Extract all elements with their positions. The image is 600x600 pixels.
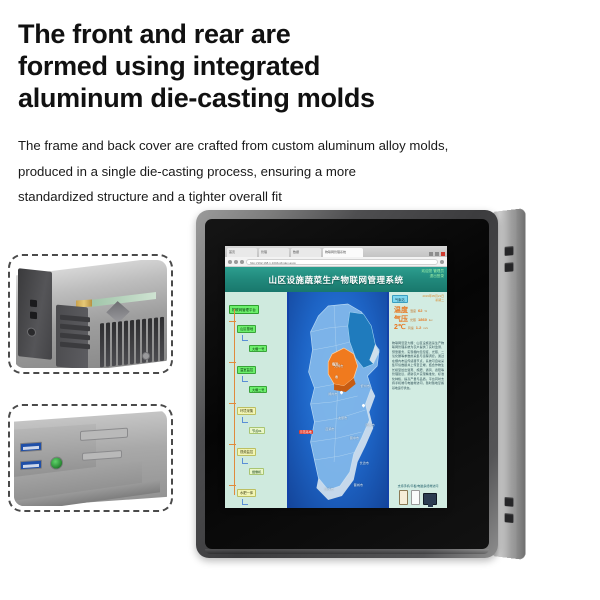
readout-label: 风速 <box>408 326 414 330</box>
info-header: 气象站 2019年05月21日 星期二 <box>392 295 444 303</box>
info-date: 2019年05月21日 星期二 <box>422 295 444 303</box>
rear-grooves <box>60 315 90 352</box>
rear-groove <box>60 333 90 341</box>
maximize-icon[interactable] <box>435 252 439 256</box>
info-description: 物联网温室大棚：山区设施蔬菜生产物联网管理系统为农户提供了实时监测、预警服务，实… <box>392 341 444 391</box>
phone-icon[interactable] <box>399 490 408 505</box>
tree-leaf[interactable]: 节点01 <box>249 427 265 435</box>
body-line-3: standardized structure and a tighter ove… <box>18 184 438 210</box>
tree-child-wrap: 大棚一号 <box>249 337 284 355</box>
heatsink-fin <box>106 322 110 366</box>
tree-spine <box>234 309 235 495</box>
info-pane: 气象站 2019年05月21日 星期二 温度 湿度 62 % <box>387 292 447 508</box>
vent-slot-icon <box>505 497 514 507</box>
readout-title: 2℃ <box>394 324 406 331</box>
logout-link[interactable]: 退出登录 <box>421 274 444 279</box>
heatsink-fin <box>160 317 164 361</box>
io-slot <box>80 428 128 441</box>
map-region-label: 晋中市 <box>350 435 359 440</box>
reload-icon[interactable] <box>240 260 244 264</box>
map-region-label: 太原市 <box>338 415 347 420</box>
close-icon[interactable] <box>441 252 445 256</box>
tree-group: 山区基地大棚一号 <box>237 317 284 355</box>
heatsink-fin <box>118 321 122 365</box>
headline: The front and rear are formed using inte… <box>18 18 378 114</box>
tree-node[interactable]: 环境采集 <box>237 407 256 415</box>
back-arrow-icon[interactable] <box>228 260 232 264</box>
readout-value: 1860 <box>418 317 427 322</box>
map-base-marker-tag[interactable]: 示范基地 <box>299 430 313 434</box>
readout-label: 光照 <box>410 318 416 322</box>
map-region-label: 忻州市 <box>361 383 370 388</box>
tree-group: 视频监控摄像机 <box>237 440 284 478</box>
inset-io-ports <box>8 404 173 512</box>
readout-unit: % <box>424 309 427 313</box>
readout-row: 2℃ 风速 1.2 m/s <box>394 324 444 331</box>
readout-unit: m/s <box>423 326 428 330</box>
tree-child-wrap: 节点01 <box>249 419 284 437</box>
app-title: 山区设施蔬菜生产物联网管理系统 <box>268 274 403 286</box>
info-date-line-2: 星期二 <box>422 299 444 303</box>
tree-child-wrap: 控制器 <box>249 501 284 508</box>
minimize-icon[interactable] <box>429 252 433 256</box>
heatsink-fin <box>124 321 128 365</box>
map-region-label: 吕梁市 <box>325 426 334 431</box>
device-support-footer: 支持手机/平板/电脑多终端访问 <box>392 484 444 508</box>
url-input[interactable]: http://192.168.1.100/iot/index.aspx <box>246 259 438 265</box>
readout-value: 62 <box>418 308 422 313</box>
readout-unit: lux <box>429 318 433 322</box>
tree-navigation-pane[interactable]: 物联网管理平台 山区基地大棚一号温室监控大棚二号环境采集节点01视频监控摄像机水… <box>225 292 289 508</box>
map-region-label: 朔州市 <box>328 391 337 396</box>
io-slot <box>82 450 122 461</box>
tree-leaf[interactable]: 摄像机 <box>249 468 264 476</box>
rear-groove <box>60 342 90 350</box>
province-map-pane[interactable]: 大同市朔州市忻州市阳泉市晋中市吕梁市太原市长治市晋城市运城市 临汾 市 示范基地 <box>289 292 387 508</box>
readout-row: 温度 湿度 62 % <box>394 307 444 314</box>
inset-rear-chassis-photo <box>14 260 167 368</box>
device-icon-row <box>392 490 444 505</box>
browser-tab-active[interactable]: 物联网管理系统 <box>323 248 363 257</box>
browser-tab[interactable]: 首页 <box>227 248 257 257</box>
desktop-monitor-icon[interactable] <box>423 493 437 505</box>
display-screen: 首页 管理 数据 物联网管理系统 http://192.168.1.10 <box>225 246 447 508</box>
readout-title: 气压 <box>394 316 408 323</box>
tree-node[interactable]: 视频监控 <box>237 448 256 456</box>
province-map-svg <box>289 292 387 508</box>
browser-tab[interactable]: 管理 <box>259 248 289 257</box>
browser-address-bar[interactable]: http://192.168.1.100/iot/index.aspx <box>225 257 447 267</box>
sensor-readouts: 温度 湿度 62 % 气压 光照 1860 lux <box>394 307 444 333</box>
inset-rear-chassis <box>8 254 173 374</box>
screw-icon <box>142 352 150 360</box>
heatsink-fin <box>112 322 116 366</box>
readout-title: 温度 <box>394 307 408 314</box>
map-region-label: 运城市 <box>324 486 333 491</box>
info-paragraph: 物联网温室大棚：山区设施蔬菜生产物联网管理系统为农户提供了实时监测、预警服务，实… <box>392 341 444 391</box>
heatsink-fins <box>100 317 166 368</box>
rear-round-port-icon <box>27 327 36 337</box>
monitor-bezel: 首页 管理 数据 物联网管理系统 http://192.168.1.10 <box>196 210 498 558</box>
readout-label: 湿度 <box>410 309 416 313</box>
tree-node[interactable]: 山区基地 <box>237 325 256 333</box>
tree-leaf[interactable]: 大棚一号 <box>249 345 267 353</box>
app-body: 物联网管理平台 山区基地大棚一号温室监控大棚二号环境采集节点01视频监控摄像机水… <box>225 292 447 508</box>
bezel-sheen <box>205 549 489 554</box>
tree-child-wrap: 摄像机 <box>249 460 284 478</box>
rail-edge <box>516 208 525 560</box>
inset-io-ports-photo <box>14 410 167 506</box>
rear-port-icon <box>30 299 37 307</box>
tree-leaf[interactable]: 大棚二号 <box>249 386 267 394</box>
menu-icon[interactable] <box>440 260 444 264</box>
readout-value: 1.2 <box>416 325 422 330</box>
phone-icon[interactable] <box>411 490 420 505</box>
map-region-label: 阳泉市 <box>365 422 374 427</box>
headline-line-2: formed using integrated <box>18 50 378 82</box>
headline-line-3: aluminum die-casting molds <box>18 82 378 114</box>
map-region-label: 长治市 <box>360 460 369 465</box>
app-header-user-area: 欢迎您 管理员 退出登录 <box>421 269 444 279</box>
window-controls[interactable] <box>429 252 445 257</box>
vent-slot-icon <box>505 262 514 272</box>
usb-port-icon <box>20 442 42 453</box>
map-highlight-label: 临汾 <box>332 361 338 366</box>
headline-line-1: The front and rear are <box>18 18 378 50</box>
heatsink-fin <box>100 323 104 367</box>
usb-port-icon <box>20 460 42 471</box>
readout-row: 气压 光照 1860 lux <box>394 316 444 323</box>
map-region-label: 晋城市 <box>354 482 363 487</box>
heatsink-fin <box>130 320 134 364</box>
station-chip[interactable]: 气象站 <box>392 295 408 303</box>
body-line-2: produced in a single die-casting process… <box>18 159 438 185</box>
browser-tab[interactable]: 数据 <box>291 248 321 257</box>
audio-jack-icon <box>50 456 63 470</box>
heatsink-fin <box>136 319 140 363</box>
heatsink-fin <box>154 317 158 361</box>
rear-side-plate <box>18 268 52 360</box>
tree-group: 环境采集节点01 <box>237 399 284 437</box>
map-highlight-sublabel: 市 <box>335 374 338 379</box>
browser-tab-bar[interactable]: 首页 管理 数据 物联网管理系统 <box>225 246 447 257</box>
tree-node[interactable]: 水肥一体 <box>237 489 256 497</box>
rear-port-icon <box>30 311 37 319</box>
product-marketing-slide: The front and rear are formed using inte… <box>0 0 600 600</box>
vent-slot-icon <box>505 513 514 523</box>
app-header: 山区设施蔬菜生产物联网管理系统 欢迎您 管理员 退出登录 <box>225 267 447 292</box>
forward-arrow-icon[interactable] <box>234 260 238 264</box>
tree-group-list: 山区基地大棚一号温室监控大棚二号环境采集节点01视频监控摄像机水肥一体控制器预警… <box>229 317 284 508</box>
device-footer-title: 支持手机/平板/电脑多终端访问 <box>392 484 444 488</box>
tree-child-wrap: 大棚二号 <box>249 378 284 396</box>
tree-group: 水肥一体控制器 <box>237 481 284 508</box>
vent-slot-icon <box>505 246 514 256</box>
body-copy: The frame and back cover are crafted fro… <box>18 133 438 210</box>
rear-groove <box>60 324 90 332</box>
tree-group: 温室监控大棚二号 <box>237 358 284 396</box>
panel-pc-device: 首页 管理 数据 物联网管理系统 http://192.168.1.10 <box>196 210 526 558</box>
tree-node[interactable]: 温室监控 <box>237 366 256 374</box>
io-chassis-body <box>14 410 167 506</box>
body-line-1: The frame and back cover are crafted fro… <box>18 133 438 159</box>
